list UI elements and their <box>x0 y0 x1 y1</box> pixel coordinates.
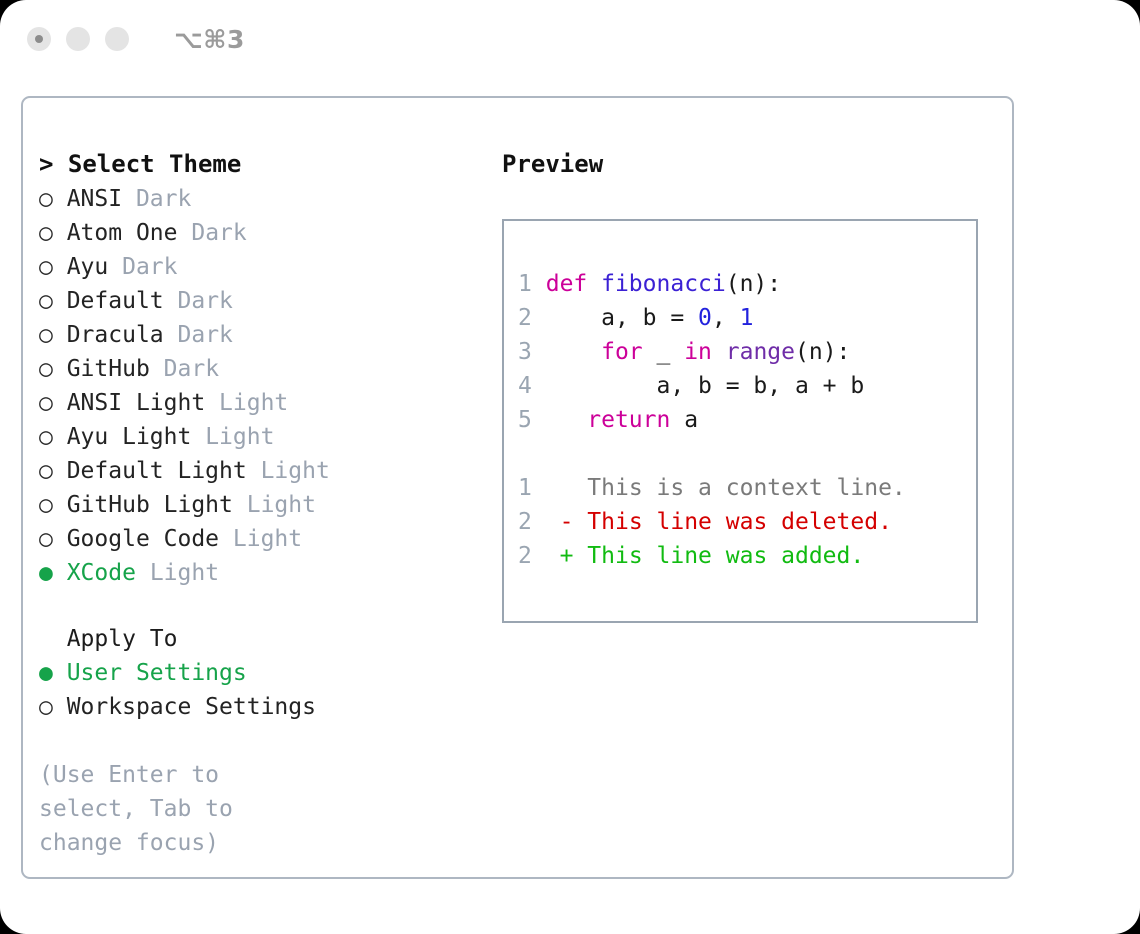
code-token: fibonacci <box>601 271 726 297</box>
keyboard-shortcut-label: ⌥⌘3 <box>174 25 245 54</box>
code-line-number: 4 <box>518 373 532 399</box>
diff-line-number: 1 <box>518 475 532 501</box>
code-line-number: 2 <box>518 305 532 331</box>
keyboard-hint-text: (Use Enter to select, Tab to change focu… <box>39 758 288 860</box>
radio-selected-icon[interactable]: ● <box>39 656 53 690</box>
spacer <box>53 492 67 518</box>
code-token: 1 <box>740 305 754 331</box>
spacer <box>53 526 67 552</box>
theme-kind-label: Dark <box>178 288 233 314</box>
apply-to-options: ● User Settings○ Workspace Settings <box>39 656 489 724</box>
window-dot-minimize[interactable] <box>66 27 90 51</box>
radio-unselected-icon[interactable]: ○ <box>39 386 53 420</box>
theme-name-label: Google Code <box>67 526 219 552</box>
code-token: a <box>670 407 698 433</box>
theme-list-pane: > Select Theme ○ ANSI Dark○ Atom One Dar… <box>39 146 489 860</box>
window-dot-close[interactable] <box>27 27 51 51</box>
radio-unselected-icon[interactable]: ○ <box>39 352 53 386</box>
theme-list-item[interactable]: ○ Google Code Light <box>39 522 489 556</box>
spacer <box>191 424 205 450</box>
code-spacer <box>518 437 976 471</box>
radio-unselected-icon[interactable]: ○ <box>39 454 53 488</box>
spacer <box>233 492 247 518</box>
spacer <box>122 186 136 212</box>
code-token: return <box>587 407 670 433</box>
apply-to-label: User Settings <box>67 660 247 686</box>
diff-line-number: 2 <box>518 509 532 535</box>
code-token: for <box>601 339 643 365</box>
theme-kind-label: Dark <box>178 322 233 348</box>
radio-unselected-icon[interactable]: ○ <box>39 216 53 250</box>
theme-kind-label: Light <box>219 390 288 416</box>
theme-list-item[interactable]: ○ Default Dark <box>39 284 489 318</box>
theme-kind-label: Light <box>205 424 274 450</box>
spacer <box>53 660 67 686</box>
diff-marker: - <box>560 509 574 535</box>
app-window: ⌥⌘3 > Select Theme ○ ANSI Dark○ Atom One… <box>0 0 1140 934</box>
diff-marker <box>560 475 574 501</box>
theme-name-label: GitHub Light <box>67 492 233 518</box>
spacer <box>532 407 546 433</box>
radio-unselected-icon[interactable]: ○ <box>39 488 53 522</box>
spacer <box>164 288 178 314</box>
spacer <box>532 305 546 331</box>
diff-line-number: 2 <box>518 543 532 569</box>
theme-kind-label: Dark <box>136 186 191 212</box>
code-token: def <box>546 271 601 297</box>
code-line-number: 1 <box>518 271 532 297</box>
spacer <box>177 220 191 246</box>
diff-line: 2 - This line was deleted. <box>518 505 976 539</box>
theme-kind-label: Dark <box>191 220 246 246</box>
spacer <box>108 254 122 280</box>
code-line: 1 def fibonacci(n): <box>518 267 976 301</box>
radio-unselected-icon[interactable]: ○ <box>39 318 53 352</box>
spacer <box>150 356 164 382</box>
spacer <box>205 390 219 416</box>
spacer <box>219 526 233 552</box>
theme-kind-label: Light <box>247 492 316 518</box>
diff-line: 2 + This line was added. <box>518 539 976 573</box>
spacer <box>164 322 178 348</box>
window-titlebar: ⌥⌘3 <box>0 0 1140 78</box>
theme-list-item[interactable]: ○ GitHub Dark <box>39 352 489 386</box>
theme-name-label: Ayu <box>67 254 109 280</box>
theme-selection-dialog: > Select Theme ○ ANSI Dark○ Atom One Dar… <box>21 96 1014 879</box>
theme-list-item[interactable]: ● XCode Light <box>39 556 489 590</box>
code-token: a, b = <box>546 305 698 331</box>
theme-kind-label: Dark <box>122 254 177 280</box>
code-token: _ <box>643 339 685 365</box>
theme-list-item[interactable]: ○ ANSI Dark <box>39 182 489 216</box>
radio-selected-icon[interactable]: ● <box>39 556 53 590</box>
spacer <box>532 475 560 501</box>
spacer <box>53 288 67 314</box>
spacer <box>247 458 261 484</box>
spacer <box>53 254 67 280</box>
apply-to-option[interactable]: ● User Settings <box>39 656 489 690</box>
code-token: a, b = b, a + b <box>546 373 865 399</box>
spacer <box>53 186 67 212</box>
code-line-number: 5 <box>518 407 532 433</box>
spacer <box>573 543 587 569</box>
radio-unselected-icon[interactable]: ○ <box>39 250 53 284</box>
code-line: 5 return a <box>518 403 976 437</box>
diff-line: 1 This is a context line. <box>518 471 976 505</box>
theme-list-item[interactable]: ○ Dracula Dark <box>39 318 489 352</box>
code-token: , <box>712 305 740 331</box>
radio-unselected-icon[interactable]: ○ <box>39 284 53 318</box>
spacer <box>53 694 67 720</box>
spacer <box>573 475 587 501</box>
preview-code-box: 1 def fibonacci(n):2 a, b = 0, 13 for _ … <box>502 219 978 623</box>
diff-text: This line was deleted. <box>587 509 892 535</box>
radio-unselected-icon[interactable]: ○ <box>39 522 53 556</box>
code-token <box>546 339 601 365</box>
diff-marker: + <box>560 543 574 569</box>
spacer <box>532 373 546 399</box>
spacer <box>53 390 67 416</box>
preview-title: Preview <box>502 146 992 182</box>
theme-list-item[interactable]: ○ Ayu Dark <box>39 250 489 284</box>
theme-kind-label: Light <box>261 458 330 484</box>
theme-kind-label: Light <box>233 526 302 552</box>
code-token <box>712 339 726 365</box>
theme-list-item[interactable]: ○ Ayu Light Light <box>39 420 489 454</box>
spacer <box>53 220 67 246</box>
spacer <box>53 458 67 484</box>
code-token: 0 <box>698 305 712 331</box>
spacer <box>532 271 546 297</box>
theme-list: ○ ANSI Dark○ Atom One Dark○ Ayu Dark○ De… <box>39 182 489 590</box>
spacer <box>532 509 560 535</box>
spacer <box>532 339 546 365</box>
spacer <box>532 543 560 569</box>
preview-pane: Preview 1 def fibonacci(n):2 a, b = 0, 1… <box>502 146 992 623</box>
radio-unselected-icon[interactable]: ○ <box>39 690 53 724</box>
code-line: 2 a, b = 0, 1 <box>518 301 976 335</box>
theme-name-label: XCode <box>67 560 136 586</box>
theme-name-label: Atom One <box>67 220 178 246</box>
theme-list-item[interactable]: ○ Atom One Dark <box>39 216 489 250</box>
theme-name-label: Default Light <box>67 458 247 484</box>
spacer <box>573 509 587 535</box>
spacer <box>53 322 67 348</box>
radio-unselected-icon[interactable]: ○ <box>39 420 53 454</box>
radio-unselected-icon[interactable]: ○ <box>39 182 53 216</box>
theme-name-label: ANSI <box>67 186 122 212</box>
apply-to-label: Workspace Settings <box>67 694 316 720</box>
spacer <box>53 356 67 382</box>
select-theme-header: > Select Theme <box>39 146 489 182</box>
code-line: 3 for _ in range(n): <box>518 335 976 369</box>
theme-name-label: Default <box>67 288 164 314</box>
apply-to-section: Apply To ● User Settings○ Workspace Sett… <box>39 622 489 724</box>
theme-name-label: GitHub <box>67 356 150 382</box>
window-dot-active-indicator <box>35 35 43 43</box>
theme-kind-label: Light <box>150 560 219 586</box>
apply-to-header: Apply To <box>39 622 489 656</box>
theme-list-item[interactable]: ○ GitHub Light Light <box>39 488 489 522</box>
diff-sample: 1 This is a context line.2 - This line w… <box>518 471 976 573</box>
theme-list-item[interactable]: ○ Default Light Light <box>39 454 489 488</box>
theme-kind-label: Dark <box>164 356 219 382</box>
spacer <box>53 560 67 586</box>
code-sample: 1 def fibonacci(n):2 a, b = 0, 13 for _ … <box>518 267 976 437</box>
code-token: range <box>726 339 795 365</box>
theme-name-label: ANSI Light <box>67 390 205 416</box>
theme-list-item[interactable]: ○ ANSI Light Light <box>39 386 489 420</box>
spacer <box>53 424 67 450</box>
code-token: in <box>684 339 712 365</box>
window-dot-maximize[interactable] <box>105 27 129 51</box>
theme-name-label: Ayu Light <box>67 424 192 450</box>
code-token: (n): <box>795 339 850 365</box>
window-controls <box>27 27 129 51</box>
code-line: 4 a, b = b, a + b <box>518 369 976 403</box>
diff-text: This line was added. <box>587 543 864 569</box>
apply-to-option[interactable]: ○ Workspace Settings <box>39 690 489 724</box>
code-line-number: 3 <box>518 339 532 365</box>
code-token <box>546 407 588 433</box>
spacer <box>136 560 150 586</box>
diff-text: This is a context line. <box>587 475 906 501</box>
code-token: (n): <box>726 271 781 297</box>
theme-name-label: Dracula <box>67 322 164 348</box>
